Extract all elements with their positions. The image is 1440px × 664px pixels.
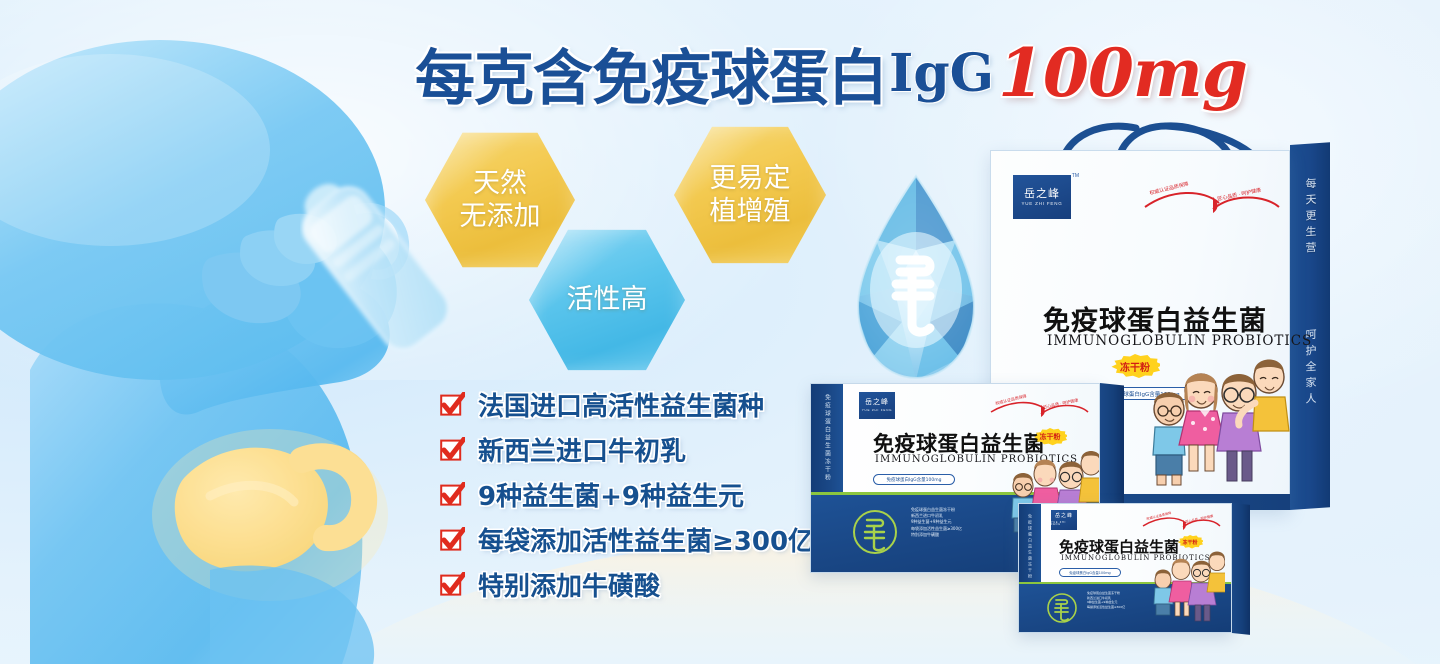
headline-igg: IgG <box>889 43 994 104</box>
box-side-text: 免疫球蛋白益生菌冻干粉 <box>823 394 832 482</box>
hex-label-natural: 天然 无添加 <box>460 167 541 234</box>
brand-logo-cn: 岳之峰 <box>1055 514 1073 519</box>
feature-list: 法国进口高活性益生菌种 新西兰进口牛初乳 9种益生菌+9种益生元 <box>440 382 840 607</box>
checkbox-check-icon <box>440 572 465 597</box>
list-item: 每袋添加活性益生菌≥300亿 <box>440 517 840 562</box>
checkbox-check-icon <box>440 527 465 552</box>
list-item-label: 9种益生菌+9种益生元 <box>478 476 744 513</box>
hex-line-1: 天然 <box>460 167 541 200</box>
box-right-panel <box>1232 503 1250 635</box>
red-ribbon-swoosh: 权威认证品质保障 匠心品质 · 呵护健康 <box>1141 187 1281 221</box>
list-item-label: 新西兰进口牛初乳 <box>478 431 686 468</box>
checkbox-check-icon <box>440 437 465 462</box>
list-item: 法国进口高活性益生菌种 <box>440 382 840 427</box>
family-illustration <box>1143 351 1293 501</box>
brand-logo-cn: 岳之峰 <box>865 399 889 406</box>
brand-logo-en: YUE ZHI FENG <box>1021 202 1062 207</box>
product-group: 每天更生营 呵护全家人 岳之峰 YUE ZHI FENG TM 权威认证品质保障 <box>800 105 1440 650</box>
checkbox-check-icon <box>440 482 465 507</box>
list-item-label: 每袋添加活性益生菌≥300亿 <box>478 521 814 558</box>
red-ribbon-swoosh: 权威认证品质保障 匠心品质 · 呵护健康 <box>989 398 1089 422</box>
headline-amount: 100mg <box>998 34 1247 112</box>
brand-logo: 岳之峰 YUE ZHI FENG <box>859 392 895 419</box>
hex-label-active: 活性高 <box>567 283 648 316</box>
product-spec-pill: 免疫球蛋白IgG含量100mg <box>1059 568 1121 577</box>
box-side-text: 免疫球蛋白益生菌冻干粉 <box>1027 514 1033 580</box>
brand-logo-cn: 岳之峰 <box>1024 188 1060 199</box>
family-illustration <box>1151 548 1225 624</box>
list-item: 特别添加牛磺酸 <box>440 562 840 607</box>
gift-bag-side-panel: 每天更生营 呵护全家人 <box>1290 142 1330 510</box>
list-item: 9种益生菌+9种益生元 <box>440 472 840 517</box>
hex-line-1: 更易定 <box>710 162 791 195</box>
brand-logo: 岳之峰 YUE ZHI FENG <box>1051 510 1077 530</box>
intestine-icon <box>853 507 897 557</box>
banner-stage: 每克含免疫球蛋白 IgG 100mg 天然 无添加 活性高 更易定 植增殖 <box>0 0 1440 664</box>
hex-badge-active: 活性高 <box>529 227 685 373</box>
hex-line-2: 植增殖 <box>710 195 791 228</box>
box-front-face: 免疫球蛋白益生菌冻干粉 岳之峰 YUE ZHI FENG 权威认证品质保障 匠心… <box>1018 503 1232 633</box>
intestine-icon <box>1047 591 1077 625</box>
list-item: 新西兰进口牛初乳 <box>440 427 840 472</box>
brand-logo-en: YUE ZHI FENG <box>1051 522 1077 527</box>
list-item-label: 特别添加牛磺酸 <box>478 566 660 603</box>
product-spec-pill: 免疫球蛋白IgG含量100mg <box>873 474 955 485</box>
checkbox-check-icon <box>440 392 465 417</box>
hex-label-colonize: 更易定 植增殖 <box>710 162 791 229</box>
trademark-symbol: TM <box>1072 174 1079 179</box>
product-box-small: 免疫球蛋白益生菌冻干粉 岳之峰 YUE ZHI FENG 权威认证品质保障 匠心… <box>1018 503 1232 633</box>
page-title: 每克含免疫球蛋白 IgG 100mg <box>415 34 1235 112</box>
hex-shape: 活性高 <box>529 227 685 373</box>
red-ribbon-swoosh: 权威认证品质保障 匠心品质 · 呵护健康 <box>1141 514 1221 534</box>
brand-logo: 岳之峰 YUE ZHI FENG TM <box>1013 175 1071 219</box>
bag-side-text-1: 每天更生营 <box>1302 177 1318 258</box>
product-name-en: IMMUNOGLOBULIN PROBIOTICS <box>1047 333 1312 349</box>
freeze-dried-badge: 冻干粉 <box>1177 535 1203 549</box>
list-item-label: 法国进口高活性益生菌种 <box>478 386 764 423</box>
headline-chinese: 每克含免疫球蛋白 <box>415 30 887 117</box>
brand-logo-en: YUE ZHI FENG <box>862 409 893 412</box>
hex-line-1: 活性高 <box>567 283 648 316</box>
